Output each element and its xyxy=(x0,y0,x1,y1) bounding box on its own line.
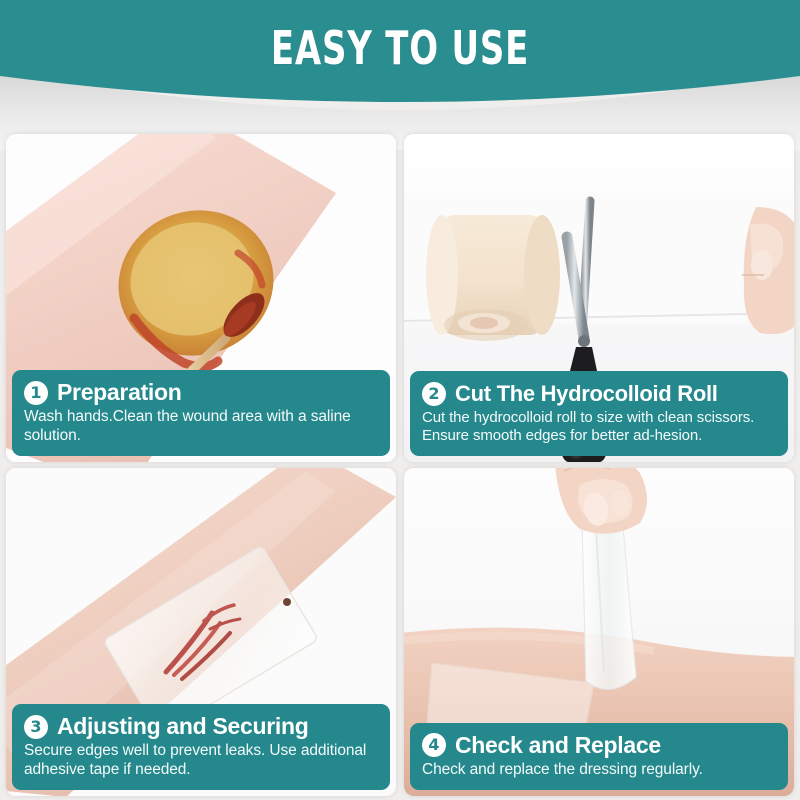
step-caption-header-2: 2 Cut The Hydrocolloid Roll xyxy=(422,380,776,407)
steps-grid: 1 Preparation Wash hands.Clean the wound… xyxy=(0,128,800,800)
step-number-badge-3: 3 xyxy=(24,715,48,739)
step-caption-header-3: 3 Adjusting and Securing xyxy=(24,713,378,740)
step-card-2[interactable]: 2 Cut The Hydrocolloid Roll Cut the hydr… xyxy=(404,134,794,462)
page-title: EASY TO USE xyxy=(72,22,728,74)
step-title-2: Cut The Hydrocolloid Roll xyxy=(455,380,718,407)
infographic-page: EASY TO USE xyxy=(0,0,800,800)
step-caption-3: 3 Adjusting and Securing Secure edges we… xyxy=(12,704,390,790)
step-card-1[interactable]: 1 Preparation Wash hands.Clean the wound… xyxy=(6,134,396,462)
step-body-2: Cut the hydrocolloid roll to size with c… xyxy=(422,409,776,445)
step-number-badge-2: 2 xyxy=(422,382,446,406)
step-number-badge-1: 1 xyxy=(24,381,48,405)
step-caption-4: 4 Check and Replace Check and replace th… xyxy=(410,723,788,791)
step-body-3: Secure edges well to prevent leaks. Use … xyxy=(24,742,378,779)
step-caption-1: 1 Preparation Wash hands.Clean the wound… xyxy=(12,370,390,456)
step-caption-2: 2 Cut The Hydrocolloid Roll Cut the hydr… xyxy=(410,371,788,456)
step-card-3[interactable]: 3 Adjusting and Securing Secure edges we… xyxy=(6,468,396,796)
step-caption-header-1: 1 Preparation xyxy=(24,379,378,406)
step-card-4[interactable]: 4 Check and Replace Check and replace th… xyxy=(404,468,794,796)
step-body-1: Wash hands.Clean the wound area with a s… xyxy=(24,408,378,445)
step-title-3: Adjusting and Securing xyxy=(57,713,309,740)
step-title-1: Preparation xyxy=(57,379,182,406)
step-title-4: Check and Replace xyxy=(455,732,661,759)
step-number-badge-4: 4 xyxy=(422,733,446,757)
step-body-4: Check and replace the dressing regularly… xyxy=(422,761,776,780)
step-caption-header-4: 4 Check and Replace xyxy=(422,732,776,759)
